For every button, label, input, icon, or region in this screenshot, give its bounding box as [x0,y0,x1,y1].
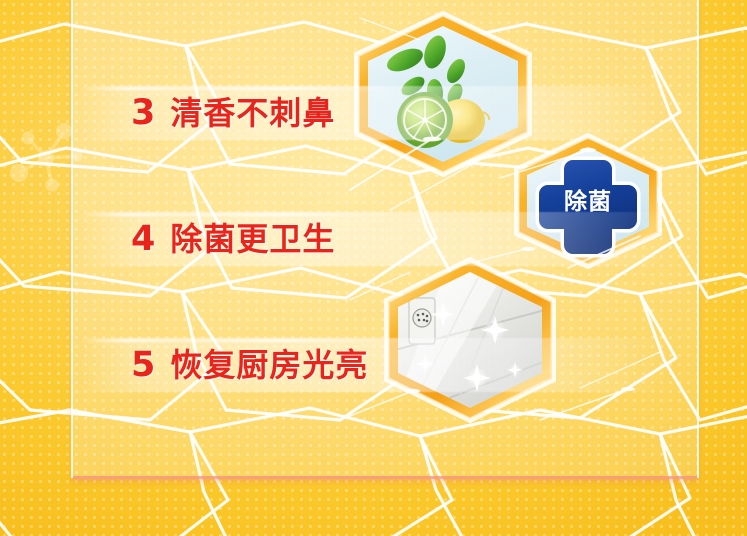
benefit-row-3: 3 清香不刺鼻 [0,86,747,140]
benefit-headline: 恢复厨房光亮 [170,349,368,381]
row-light-streak [80,213,410,216]
promo-banner: 除菌 [0,0,747,536]
benefit-headline: 除菌更卫生 [170,223,335,255]
benefit-rank-number: 5 [131,348,155,383]
benefit-rank-number: 3 [131,96,155,131]
cross-caption: 除菌 [564,188,612,215]
benefit-rank-number: 4 [131,222,155,257]
row-light-streak [80,87,410,90]
row-light-streak [80,339,410,342]
benefit-row-4: 4 除菌更卫生 [0,212,747,266]
benefit-row-5: 5 恢复厨房光亮 [0,338,747,392]
benefit-headline: 清香不刺鼻 [170,97,335,129]
